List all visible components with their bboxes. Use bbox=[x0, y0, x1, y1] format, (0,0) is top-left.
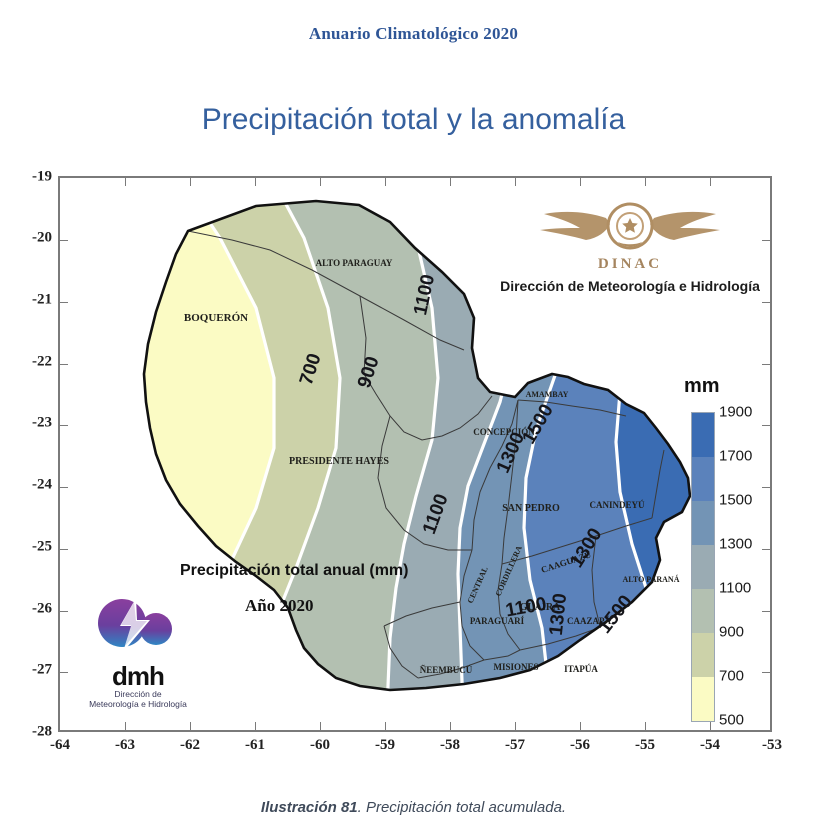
x-tick bbox=[125, 722, 126, 730]
dinac-subtitle: Dirección de Meteorología e Hidrología bbox=[500, 278, 760, 294]
x-tick bbox=[450, 178, 451, 186]
dept-label: ALTO PARANÁ bbox=[623, 574, 680, 584]
y-axis-label: -21 bbox=[32, 292, 52, 309]
colorbar-tick-label: 1900 bbox=[719, 404, 752, 421]
y-axis-label: -28 bbox=[32, 724, 52, 741]
colorbar-tick-label: 1500 bbox=[719, 492, 752, 509]
y-tick bbox=[762, 364, 770, 365]
x-tick bbox=[580, 722, 581, 730]
x-axis-label: -57 bbox=[505, 737, 525, 754]
dmh-sub-line2: Meteorología e Hidrología bbox=[89, 699, 187, 709]
x-tick bbox=[255, 722, 256, 730]
y-tick bbox=[762, 549, 770, 550]
colorbar-tick-label: 1300 bbox=[719, 536, 752, 553]
map-inner-subtitle: Año 2020 bbox=[245, 596, 313, 616]
colorbar-band-700-500[interactable] bbox=[691, 677, 715, 722]
x-tick bbox=[645, 722, 646, 730]
dept-label: AMAMBAY bbox=[526, 390, 569, 399]
colorbar-band-1300-1100[interactable] bbox=[691, 545, 715, 589]
dept-label: BOQUERÓN bbox=[184, 312, 248, 324]
y-tick bbox=[762, 672, 770, 673]
dinac-logo-text: DINAC bbox=[598, 256, 662, 273]
y-tick bbox=[762, 302, 770, 303]
y-axis-label: -19 bbox=[32, 169, 52, 186]
y-tick bbox=[60, 302, 68, 303]
y-tick bbox=[60, 672, 68, 673]
x-tick bbox=[190, 178, 191, 186]
x-axis-label: -58 bbox=[440, 737, 460, 754]
dept-label: MISIONES bbox=[493, 662, 538, 672]
x-axis-label: -54 bbox=[700, 737, 720, 754]
figure-caption-number: Ilustración 81 bbox=[261, 799, 358, 816]
x-axis-label: -64 bbox=[50, 737, 70, 754]
figure-caption-text: . Precipitación total acumulada. bbox=[358, 799, 566, 816]
x-axis-label: -59 bbox=[375, 737, 395, 754]
dept-label: PRESIDENTE HAYES bbox=[289, 456, 389, 467]
dept-label: CANINDEYÚ bbox=[589, 500, 645, 510]
x-tick bbox=[710, 722, 711, 730]
y-tick bbox=[762, 487, 770, 488]
dept-label: ÑEEMBUCÚ bbox=[420, 665, 473, 675]
page-title: Anuario Climatológico 2020 bbox=[0, 24, 827, 44]
colorbar-tick-label: 1700 bbox=[719, 448, 752, 465]
colorbar-tick-label: 1100 bbox=[719, 580, 751, 597]
colorbar-tick-label: 900 bbox=[719, 624, 744, 641]
dmh-sub-line1: Dirección de bbox=[114, 689, 161, 699]
y-axis-label: -26 bbox=[32, 601, 52, 618]
y-tick bbox=[762, 425, 770, 426]
colorbar-band-1100-900[interactable] bbox=[691, 589, 715, 633]
x-axis-label: -62 bbox=[180, 737, 200, 754]
y-tick bbox=[762, 240, 770, 241]
x-tick bbox=[710, 178, 711, 186]
colorbar-tick-label: 500 bbox=[719, 712, 744, 729]
dept-label: ALTO PARAGUAY bbox=[316, 258, 393, 268]
y-axis-label: -27 bbox=[32, 662, 52, 679]
colorbar-tick-label: 700 bbox=[719, 668, 744, 685]
x-tick bbox=[385, 722, 386, 730]
x-tick bbox=[580, 178, 581, 186]
figure-caption: Ilustración 81. Precipitación total acum… bbox=[0, 799, 827, 816]
colorbar-band-1700-1500[interactable] bbox=[691, 457, 715, 501]
y-tick bbox=[60, 240, 68, 241]
x-tick bbox=[255, 178, 256, 186]
x-tick bbox=[645, 178, 646, 186]
y-tick bbox=[60, 549, 68, 550]
dmh-logo-text: dmh bbox=[112, 661, 164, 692]
x-tick bbox=[450, 722, 451, 730]
colorbar-band-900-700[interactable] bbox=[691, 633, 715, 677]
x-tick bbox=[385, 178, 386, 186]
colorbar[interactable]: 1900 1700 1500 1300 1100 900 700 500 bbox=[691, 412, 715, 722]
y-tick bbox=[762, 611, 770, 612]
colorbar-band-1900-1700[interactable] bbox=[691, 412, 715, 457]
x-axis-label: -55 bbox=[635, 737, 655, 754]
dmh-cloud-logo-icon bbox=[90, 596, 186, 660]
dept-label: ITAPÚA bbox=[564, 664, 598, 674]
x-tick bbox=[320, 178, 321, 186]
x-tick bbox=[515, 722, 516, 730]
y-tick bbox=[60, 611, 68, 612]
y-axis-label: -23 bbox=[32, 415, 52, 432]
x-axis-label: -61 bbox=[245, 737, 265, 754]
y-axis-label: -24 bbox=[32, 477, 52, 494]
x-axis-label: -56 bbox=[570, 737, 590, 754]
x-tick bbox=[320, 722, 321, 730]
y-tick bbox=[60, 425, 68, 426]
y-axis-label: -20 bbox=[32, 230, 52, 247]
x-axis-label: -60 bbox=[310, 737, 330, 754]
chart-main-title: Precipitación total y la anomalía bbox=[0, 103, 827, 137]
y-axis-label: -22 bbox=[32, 354, 52, 371]
colorbar-unit-label: mm bbox=[684, 375, 720, 398]
x-axis-label: -53 bbox=[762, 737, 782, 754]
dept-label: SAN PEDRO bbox=[502, 503, 560, 514]
x-axis-label: -63 bbox=[115, 737, 135, 754]
contour-label: 1300 bbox=[546, 592, 571, 636]
map-inner-title: Precipitación total anual (mm) bbox=[180, 562, 408, 580]
dmh-logo-subtitle: Dirección de Meteorología e Hidrología bbox=[89, 689, 187, 709]
x-tick bbox=[515, 178, 516, 186]
x-tick bbox=[190, 722, 191, 730]
dinac-logo-icon bbox=[510, 198, 750, 256]
y-axis-label: -25 bbox=[32, 539, 52, 556]
y-tick bbox=[60, 487, 68, 488]
y-tick bbox=[60, 364, 68, 365]
colorbar-band-1500-1300[interactable] bbox=[691, 501, 715, 545]
x-tick bbox=[125, 178, 126, 186]
